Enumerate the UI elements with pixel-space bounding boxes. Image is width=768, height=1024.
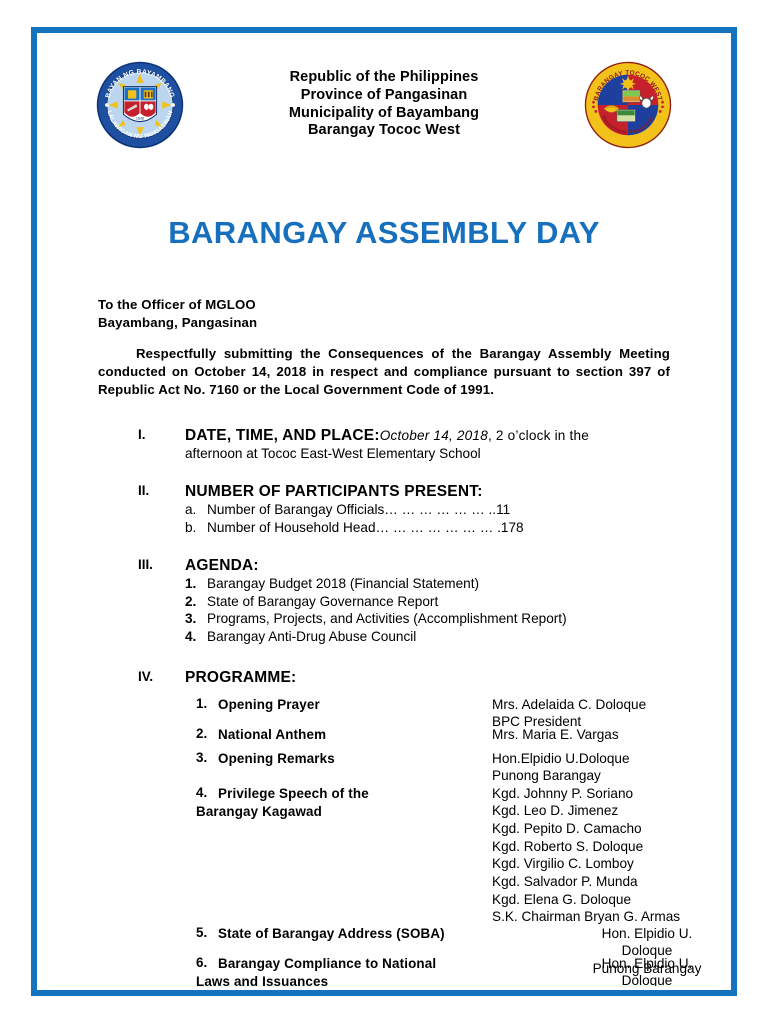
list-label: State of Barangay Governance Report [207, 593, 438, 611]
addressee-line-2: Bayambang, Pangasinan [98, 314, 727, 332]
list-marker: 2. [185, 593, 207, 611]
intro-paragraph: Respectfully submitting the Consequences… [98, 345, 670, 398]
section-heading-agenda: AGENDA: [185, 557, 707, 575]
section-participants: II. NUMBER OF PARTICIPANTS PRESENT: a. N… [138, 483, 707, 536]
section-heading-label: DATE, TIME, AND PLACE: [185, 427, 380, 444]
programme-activity: Privilege Speech of the Barangay Kagawad [196, 786, 369, 819]
programme-row: 6. Barangay Compliance to National Laws … [196, 955, 707, 987]
list-label: Programs, Projects, and Activities (Acco… [207, 610, 567, 628]
programme-row: 2. National Anthem Mrs. Maria E. Vargas [196, 726, 707, 744]
list-marker: b. [185, 519, 207, 536]
barangay-tococ-west-seal-icon: BARANGAY TOCOC WEST Bayambang, Pangasina… [582, 59, 674, 151]
list-marker: a. [185, 501, 207, 518]
list-label: Barangay Budget 2018 (Financial Statemen… [207, 575, 479, 593]
addressee-block: To the Officer of MGLOO Bayambang, Panga… [98, 296, 727, 331]
programme-activity: State of Barangay Address (SOBA) [218, 926, 445, 941]
programme-number: 5. [196, 925, 218, 940]
programme-row: 1. Opening Prayer Mrs. Adelaida C. Doloq… [196, 696, 707, 714]
programme-activity: Opening Remarks [218, 751, 335, 766]
document-page: 1838 BAYAN NG BAYAMBANG LALAWIGAN NG PAN… [40, 36, 728, 987]
list-label: Number of Barangay Officials… … … … … … … [207, 501, 510, 518]
list-item: a. Number of Barangay Officials… … … … …… [185, 501, 707, 518]
list-label: Barangay Anti-Drug Abuse Council [207, 628, 416, 646]
programme-person: Mrs. Maria E. Vargas [492, 726, 619, 744]
list-marker: 3. [185, 610, 207, 628]
list-item: b. Number of Household Head… … … … … … …… [185, 519, 707, 536]
programme-row: 3. Opening Remarks Hon.Elpidio U.Doloque… [196, 750, 707, 768]
programme-person: Hon. Elpidio U. Doloque Punong Barangay [587, 955, 707, 987]
section-i-continuation: afternoon at Tococ East-West Elementary … [185, 445, 707, 463]
programme-person: Hon.Elpidio U.Doloque Punong Barangay [492, 750, 630, 785]
programme-activity: Barangay Compliance to National Laws and… [196, 956, 436, 987]
list-marker: 1. [185, 575, 207, 593]
section-agenda: III. AGENDA: 1. Barangay Budget 2018 (Fi… [138, 557, 707, 646]
addressee-line-1: To the Officer of MGLOO [98, 296, 727, 314]
programme-number: 1. [196, 696, 218, 711]
list-item: 2. State of Barangay Governance Report [185, 593, 707, 611]
programme-person: Kgd. Johnny P. Soriano Kgd. Leo D. Jimen… [492, 785, 680, 926]
section-date-time-place: I. DATE, TIME, AND PLACE:October 14, 201… [138, 427, 707, 463]
section-heading-date-time-place: DATE, TIME, AND PLACE:October 14, 2018, … [185, 427, 707, 445]
section-numeral-ii: II. [138, 483, 182, 498]
programme-list: 1. Opening Prayer Mrs. Adelaida C. Doloq… [196, 690, 707, 987]
programme-number: 3. [196, 750, 218, 765]
meeting-date-value: October 14, 2018 [380, 428, 488, 443]
section-numeral-iv: IV. [138, 669, 182, 684]
list-marker: 4. [185, 628, 207, 646]
list-item: 1. Barangay Budget 2018 (Financial State… [185, 575, 707, 593]
programme-activity: National Anthem [218, 727, 326, 742]
page-title: BARANGAY ASSEMBLY DAY [41, 215, 727, 251]
document-page-border: 1838 BAYAN NG BAYAMBANG LALAWIGAN NG PAN… [31, 27, 737, 996]
section-numeral-i: I. [138, 427, 182, 442]
section-heading-programme: PROGRAMME: [185, 669, 707, 687]
list-item: 3. Programs, Projects, and Activities (A… [185, 610, 707, 628]
section-numeral-iii: III. [138, 557, 182, 572]
programme-number: 6. [196, 955, 218, 970]
section-heading-participants: NUMBER OF PARTICIPANTS PRESENT: [185, 483, 707, 501]
document-header: 1838 BAYAN NG BAYAMBANG LALAWIGAN NG PAN… [41, 59, 727, 181]
meeting-time-value: , 2 o’clock in the [488, 428, 589, 443]
programme-row: 4. Privilege Speech of the Barangay Kaga… [196, 785, 707, 821]
programme-number: 4. [196, 785, 218, 800]
list-label: Number of Household Head… … … … … … … .1… [207, 519, 524, 536]
list-item: 4. Barangay Anti-Drug Abuse Council [185, 628, 707, 646]
programme-activity: Opening Prayer [218, 697, 320, 712]
participants-list: a. Number of Barangay Officials… … … … …… [185, 501, 707, 536]
programme-number: 2. [196, 726, 218, 741]
section-programme: IV. PROGRAMME: 1. Opening Prayer Mrs. Ad… [138, 669, 707, 987]
agenda-list: 1. Barangay Budget 2018 (Financial State… [185, 575, 707, 646]
programme-row: 5. State of Barangay Address (SOBA) Hon.… [196, 925, 707, 943]
